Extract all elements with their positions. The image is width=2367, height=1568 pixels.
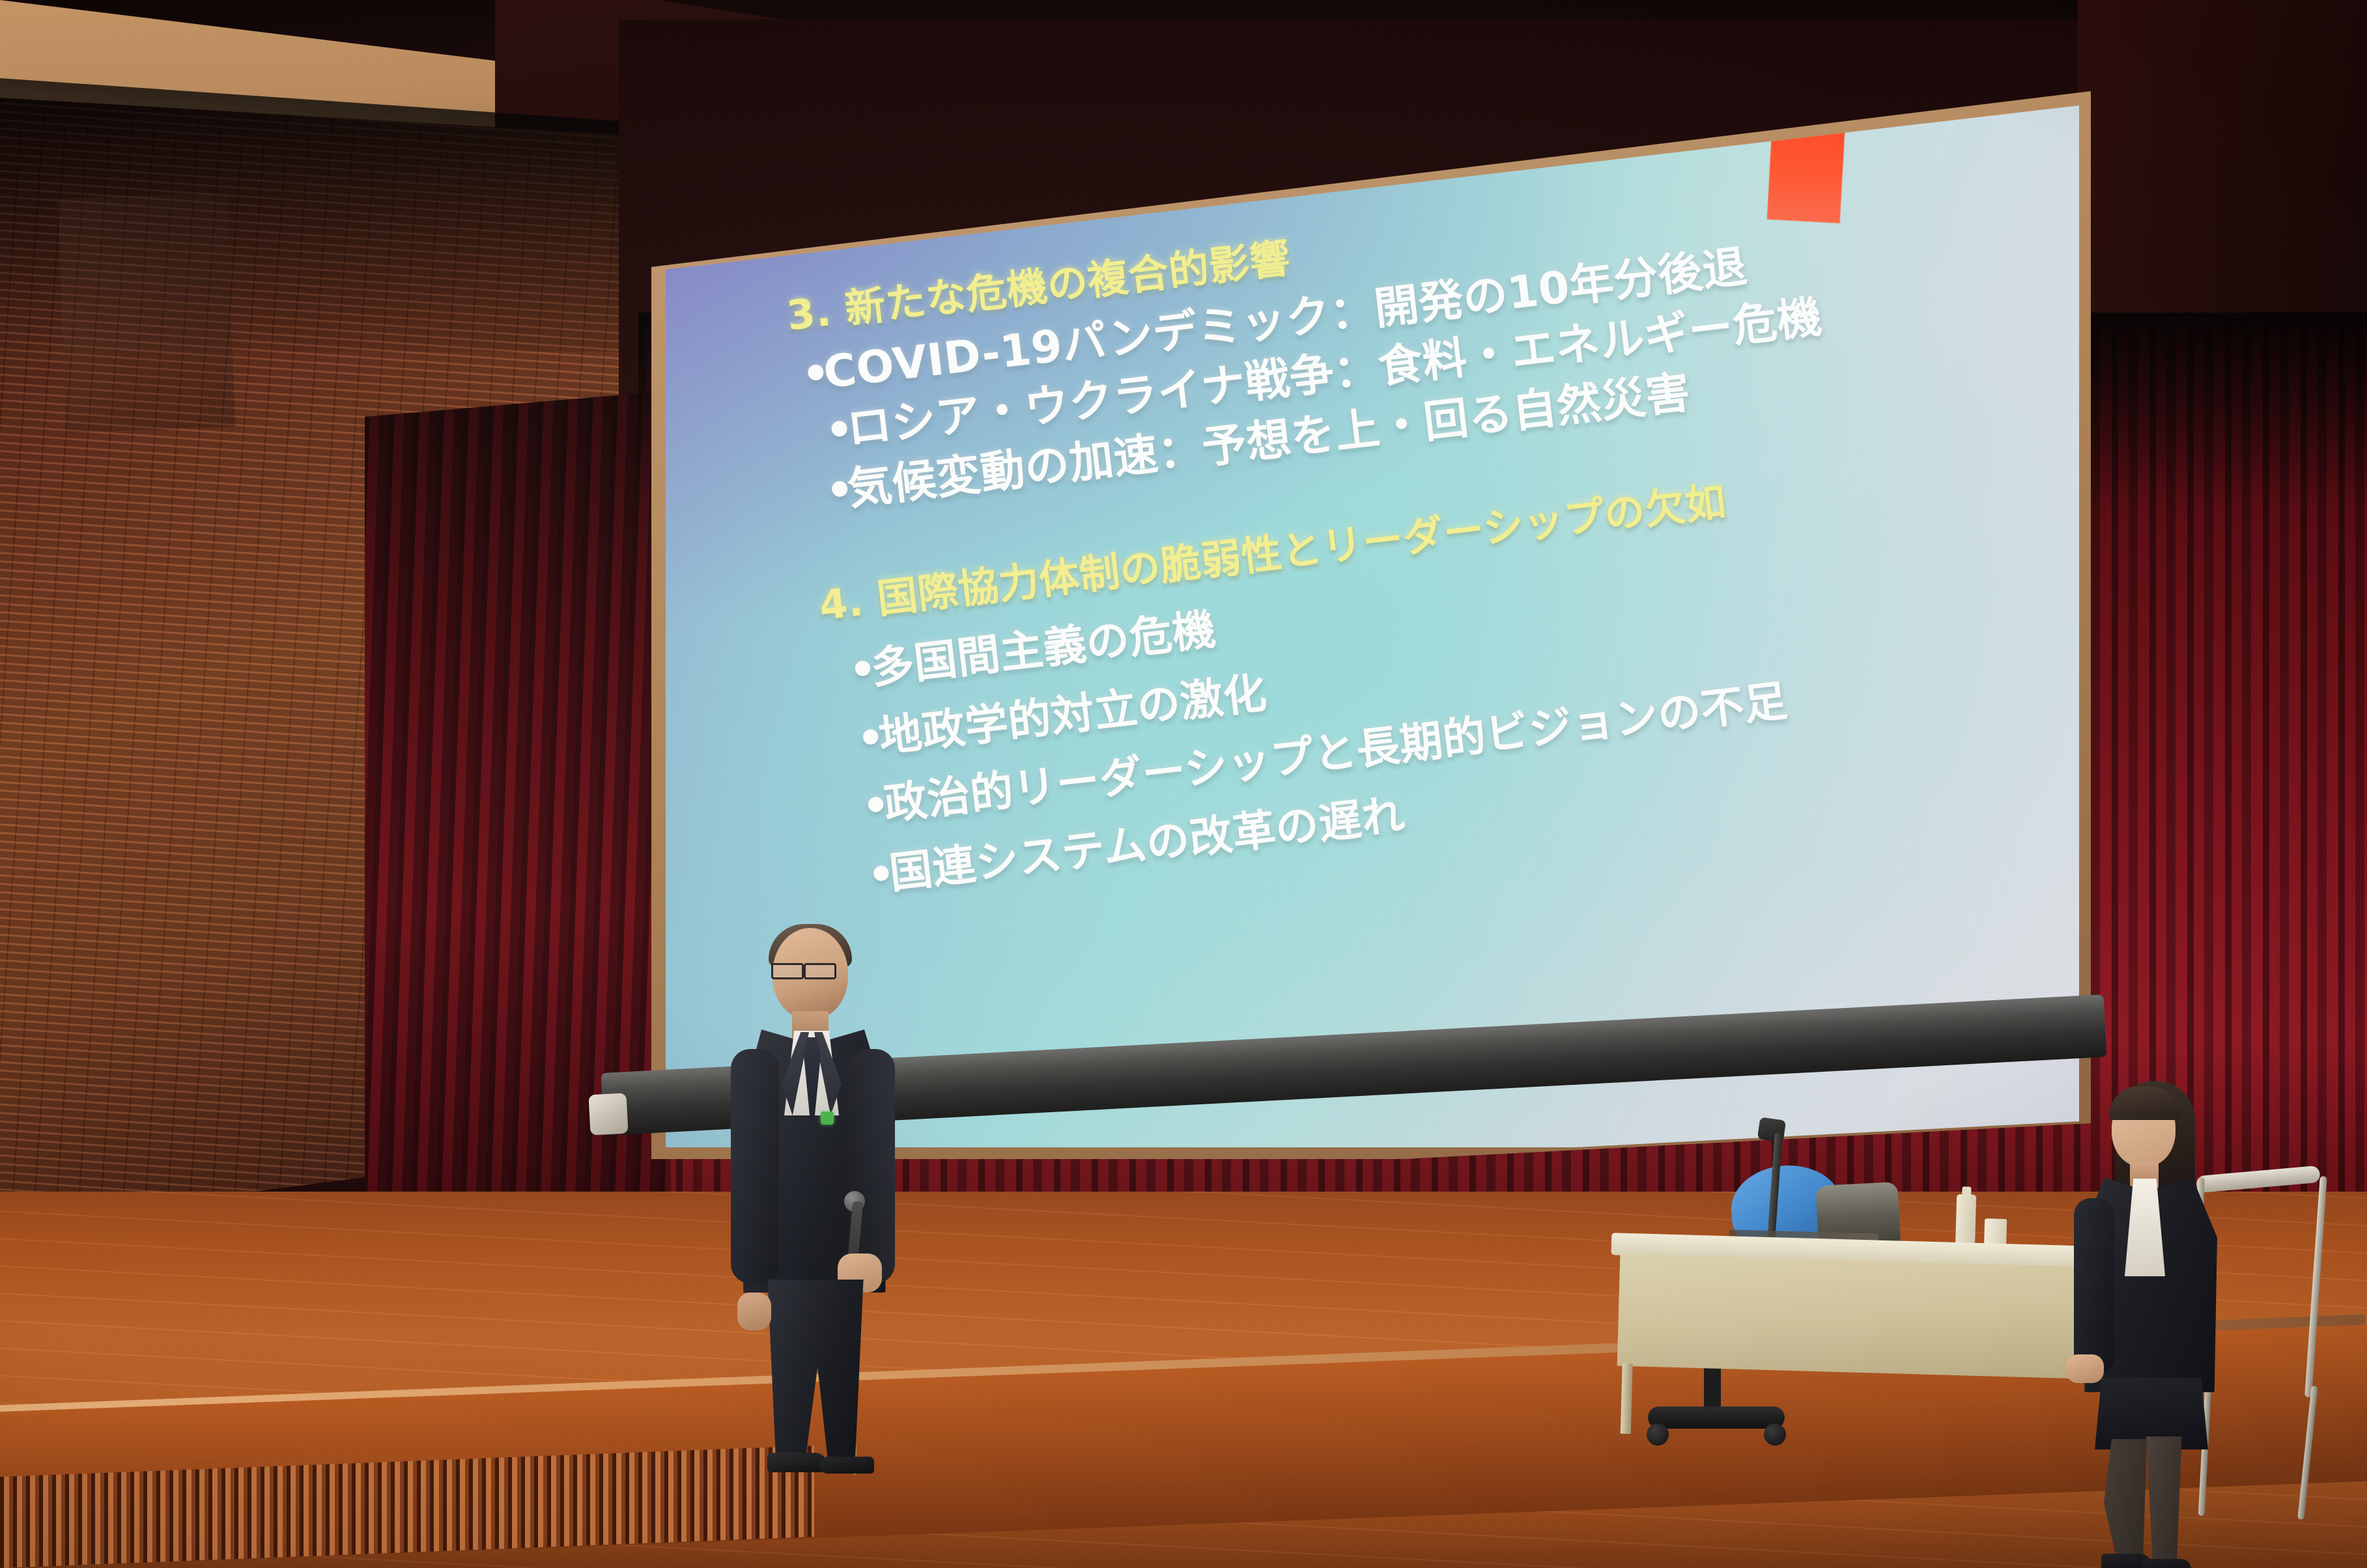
seated-hand — [2066, 1354, 2104, 1383]
presenter-hand-left — [737, 1293, 771, 1330]
auditorium-scene: 3. 新たな危機の複合的影響 •COVID-19パンデミック：開発の10年分後退… — [0, 0, 2367, 1568]
seated-person-figure — [2065, 1074, 2234, 1524]
presenter-badge — [821, 1112, 834, 1125]
desk-leg-left — [1621, 1364, 1633, 1434]
glasses-icon — [770, 963, 847, 976]
presenter-trousers — [763, 1280, 868, 1462]
presenter-shoe-right — [819, 1457, 874, 1474]
roller-end-cap — [588, 1093, 628, 1136]
water-bottle — [1955, 1194, 1976, 1248]
seated-shoe-b — [2142, 1559, 2191, 1568]
presenter-shoe-left — [767, 1453, 827, 1472]
presenter-figure — [722, 928, 904, 1475]
presenter-arm-left — [731, 1049, 779, 1283]
seated-arm — [2074, 1198, 2114, 1374]
wall-shadow — [0, 78, 658, 352]
chair-frame-right — [2304, 1176, 2327, 1397]
chair-leg-right — [2297, 1386, 2317, 1520]
